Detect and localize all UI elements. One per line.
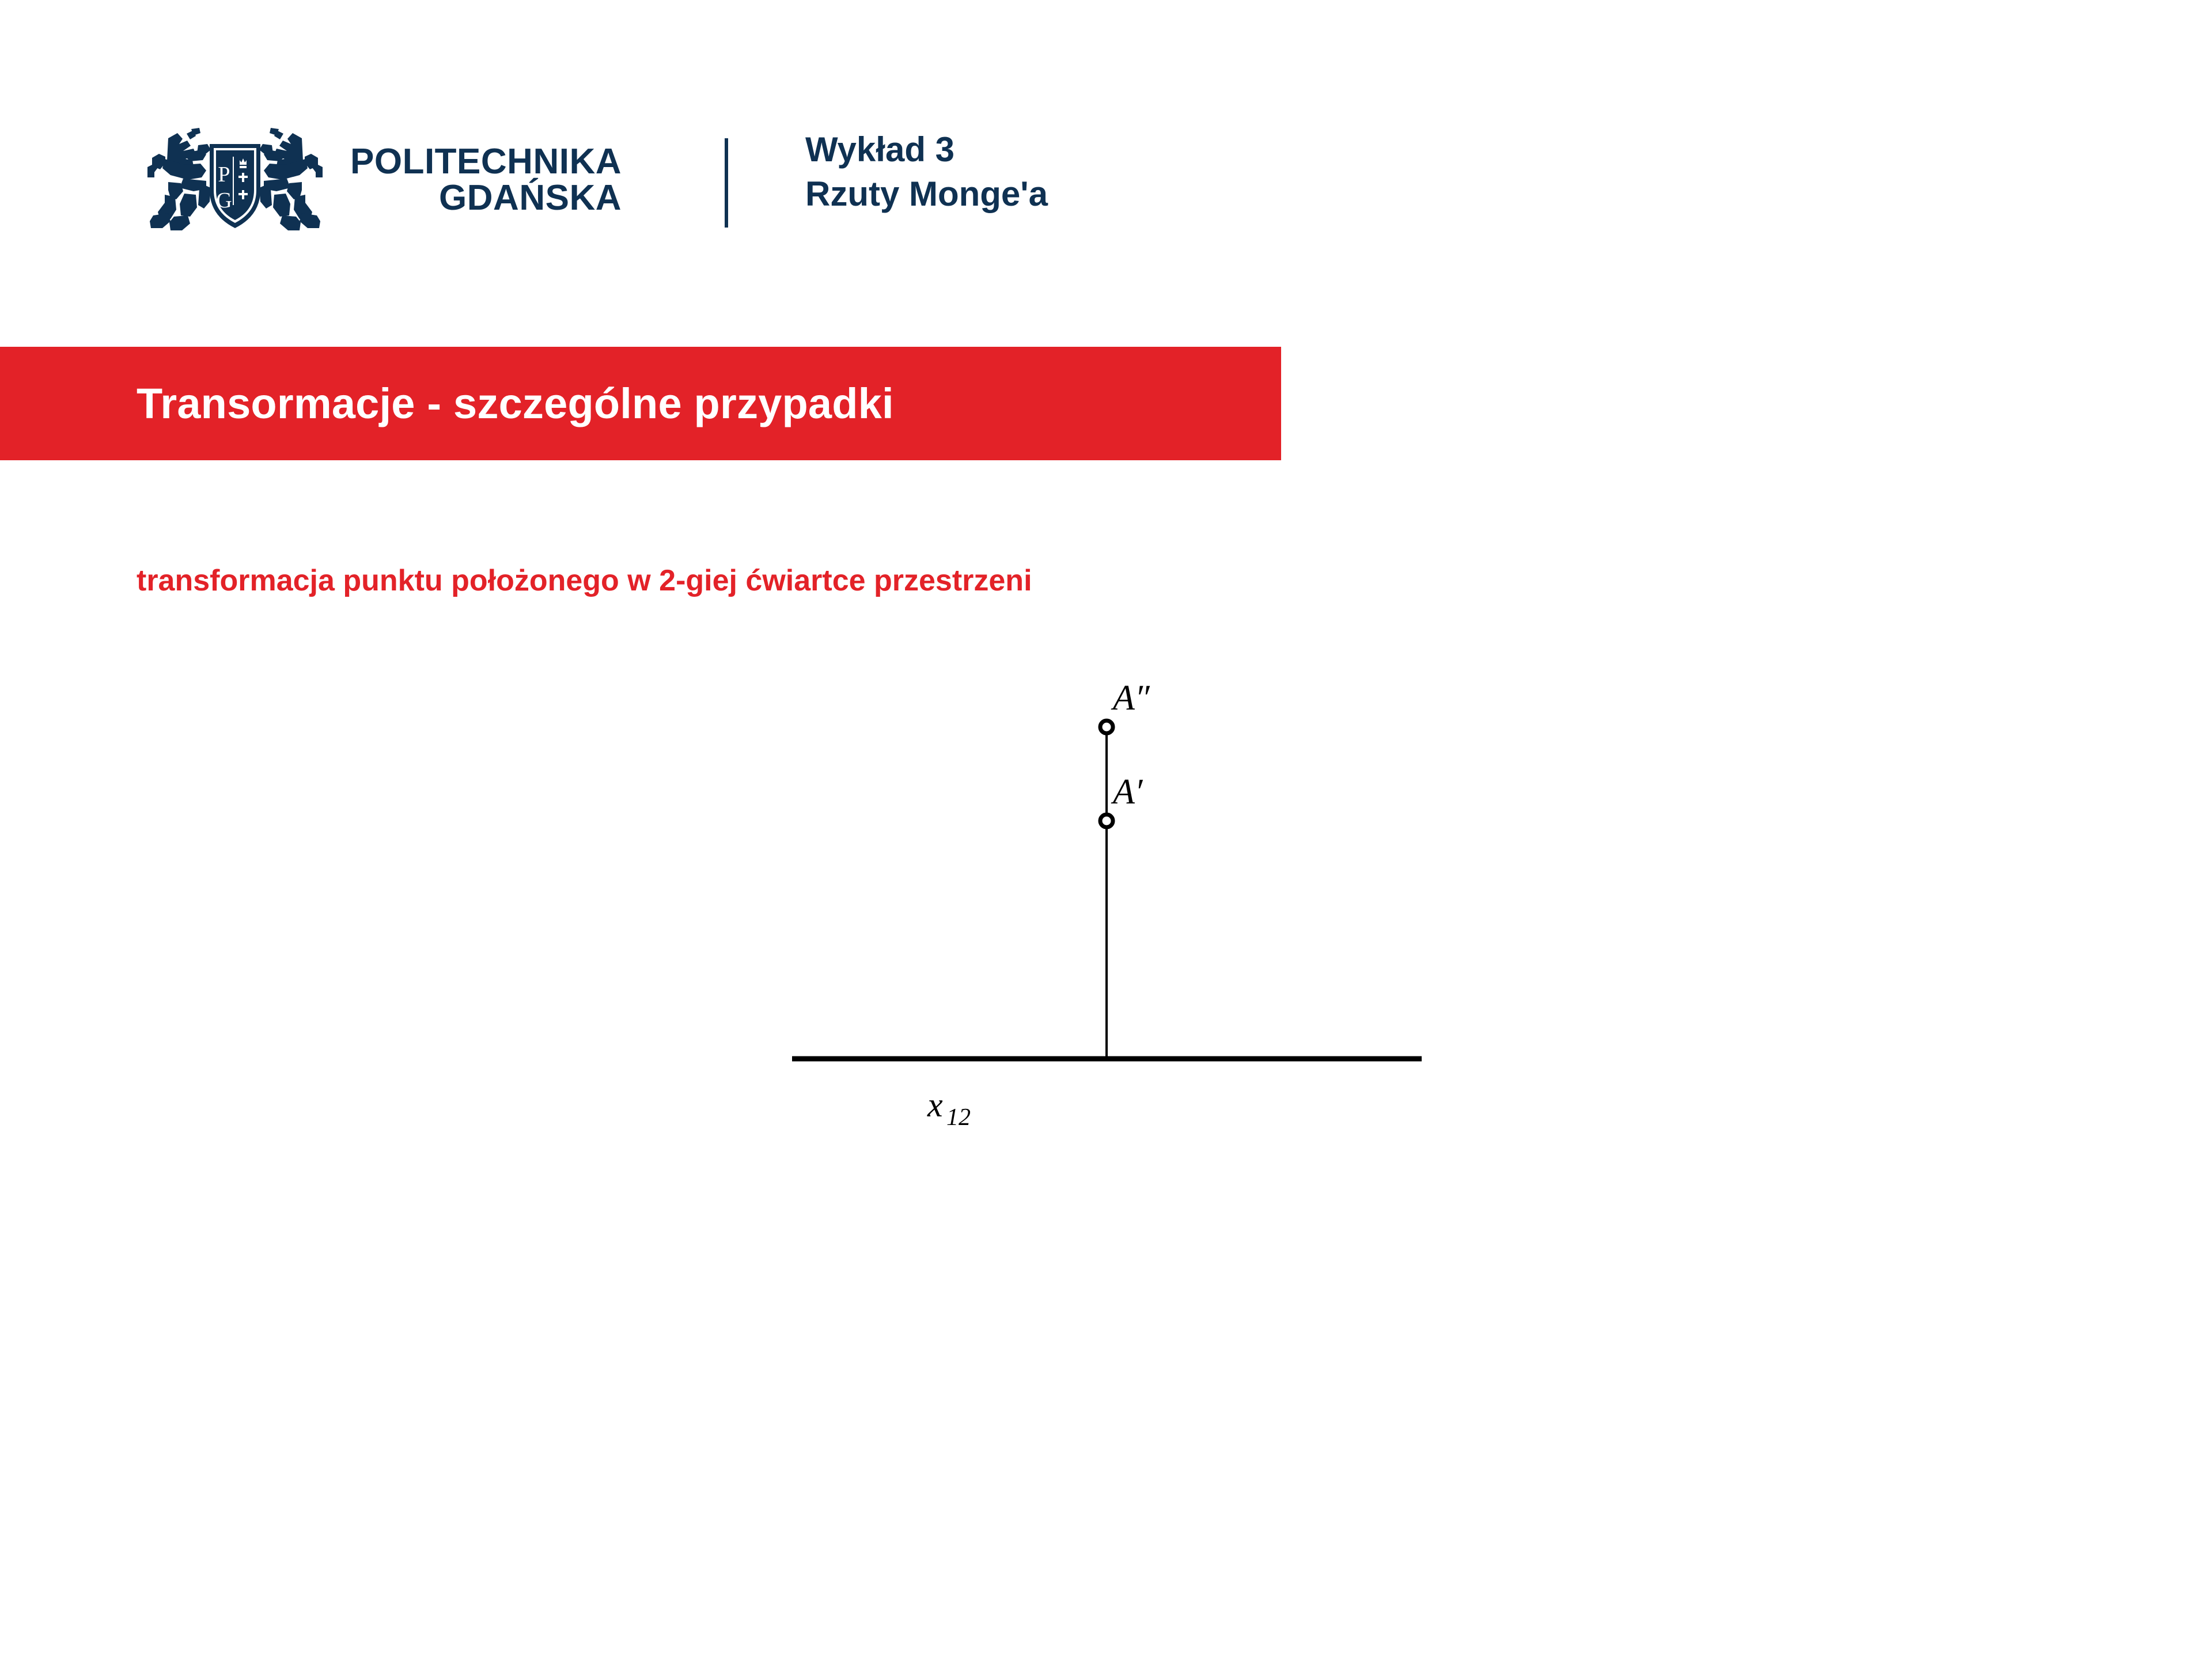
wordmark-line-1: POLITECHNIKA	[350, 143, 622, 180]
section-title-text: Transormacje - szczególne przypadki	[137, 347, 894, 460]
axis-label-x-subscript: 12	[946, 1104, 971, 1131]
slide-subtitle: transformacja punktu położonego w 2-giej…	[137, 563, 1032, 598]
pg-crest-logo-icon: P G	[134, 122, 336, 237]
point-label-A-prime: A′	[1111, 772, 1143, 812]
slide-root: P G POLITECHNIKA GDAŃSKA	[0, 0, 2212, 1659]
lecture-topic: Rzuty Monge'a	[805, 172, 1048, 217]
wordmark-line-2: GDAŃSKA	[350, 180, 622, 216]
monge-diagram-svg: A″ A′ x 12	[737, 645, 1486, 1152]
university-logo-lockup: P G POLITECHNIKA GDAŃSKA	[134, 122, 622, 237]
header-divider	[725, 138, 728, 228]
monge-projection-diagram: A″ A′ x 12	[737, 645, 1486, 1152]
svg-text:G: G	[216, 188, 232, 213]
point-marker-A-double-prime	[1100, 721, 1113, 733]
section-title-banner: Transormacje - szczególne przypadki	[0, 347, 1281, 460]
university-wordmark: POLITECHNIKA GDAŃSKA	[350, 143, 622, 216]
point-marker-A-prime	[1100, 815, 1113, 827]
point-label-A-double-prime: A″	[1111, 679, 1150, 718]
lecture-number: Wykład 3	[805, 128, 1048, 172]
slide-header: P G POLITECHNIKA GDAŃSKA	[0, 0, 2212, 300]
lecture-title-block: Wykład 3 Rzuty Monge'a	[805, 128, 1048, 217]
svg-text:P: P	[218, 162, 230, 187]
axis-label-x: x	[927, 1086, 943, 1124]
